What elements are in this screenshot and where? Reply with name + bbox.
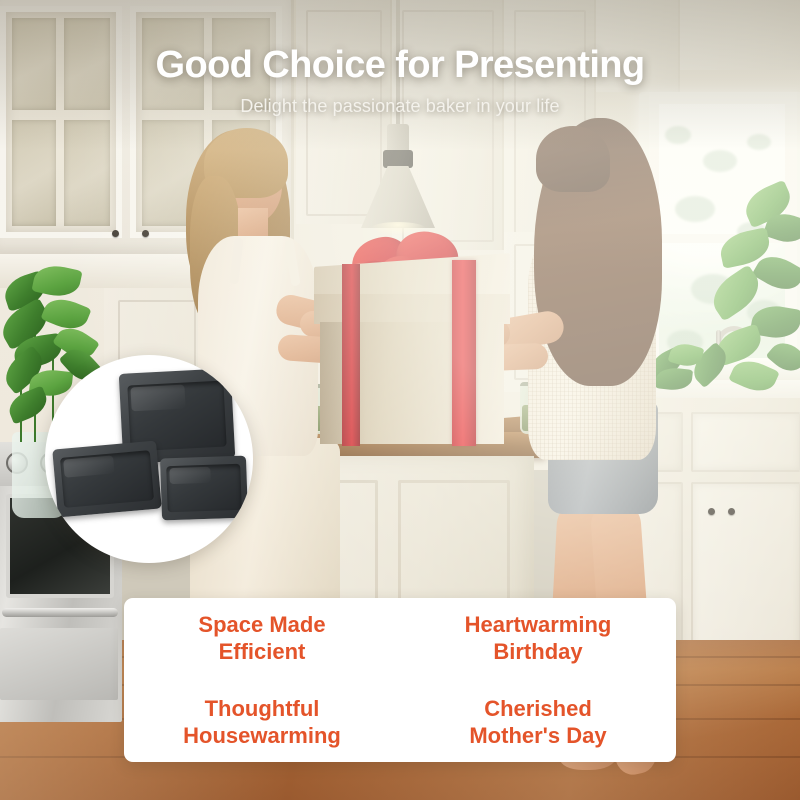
feature-item: Thoughtful Housewarming [183,695,341,749]
feature-item: Heartwarming Birthday [465,611,612,665]
small-baking-sheet [160,456,248,521]
gift-box [300,238,520,446]
page-title: Good Choice for Presenting [0,44,800,87]
feature-column-right: Heartwarming Birthday Cherished Mother's… [400,598,676,762]
feature-card: Space Made Efficient Thoughtful Housewar… [124,598,676,762]
medium-baking-sheet [52,441,162,518]
feature-item: Space Made Efficient [198,611,325,665]
product-inset-circle [45,355,253,563]
pendant-lamp-collar [383,150,413,168]
promo-banner: Good Choice for Presenting Delight the p… [0,0,800,800]
feature-column-left: Space Made Efficient Thoughtful Housewar… [124,598,400,762]
feature-item: Cherished Mother's Day [469,695,606,749]
page-subtitle: Delight the passionate baker in your lif… [0,96,800,117]
